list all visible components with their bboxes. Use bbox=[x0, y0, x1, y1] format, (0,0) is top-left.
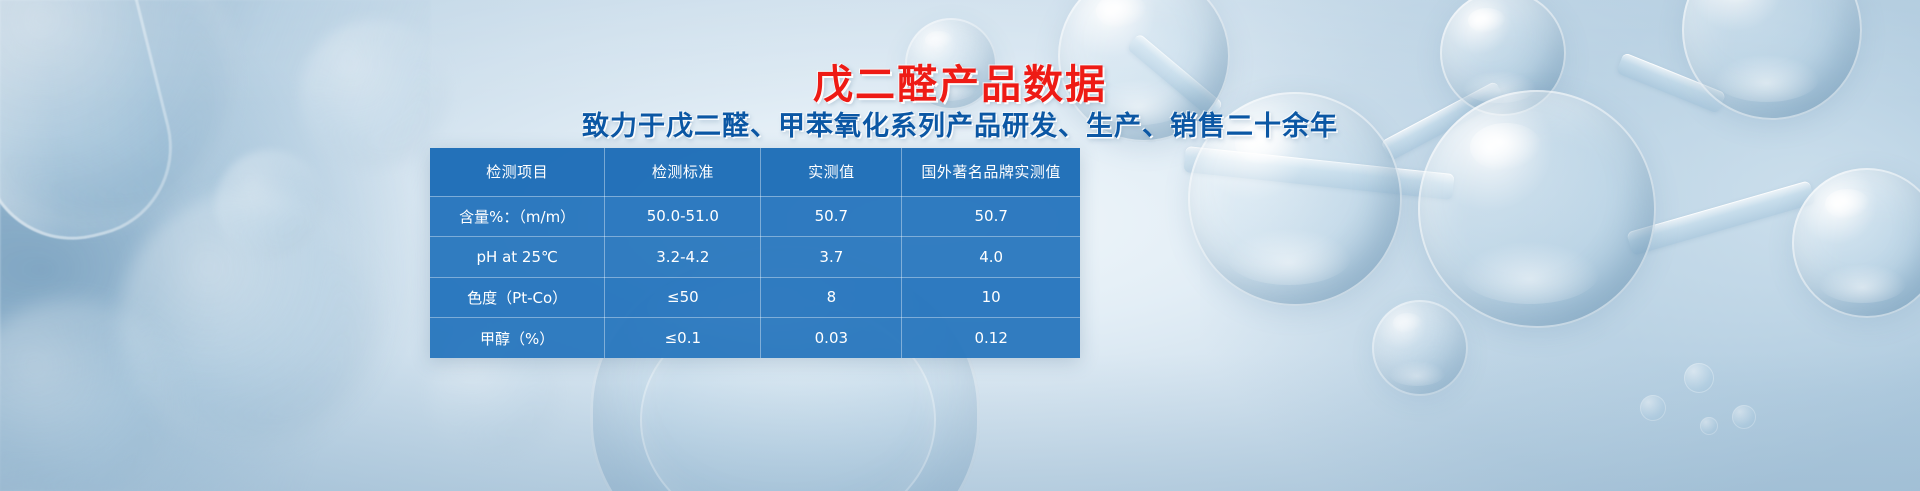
product-data-table-container: 检测项目 检测标准 实测值 国外著名品牌实测值 含量%：（m/m） 50.0-5… bbox=[430, 148, 1080, 358]
cell-standard: ≤0.1 bbox=[605, 318, 761, 359]
column-header-foreign: 国外著名品牌实测值 bbox=[902, 148, 1080, 196]
cell-measured: 8 bbox=[761, 277, 902, 318]
banner-title: 戊二醛产品数据 bbox=[0, 52, 1920, 110]
cell-standard: 50.0-51.0 bbox=[605, 196, 761, 237]
cell-standard: ≤50 bbox=[605, 277, 761, 318]
column-header-measured: 实测值 bbox=[761, 148, 902, 196]
cell-item: 色度（Pt-Co） bbox=[430, 277, 605, 318]
column-header-item: 检测项目 bbox=[430, 148, 605, 196]
cell-foreign: 50.7 bbox=[902, 196, 1080, 237]
cell-foreign: 4.0 bbox=[902, 237, 1080, 278]
table-row: 甲醇（%） ≤0.1 0.03 0.12 bbox=[430, 318, 1080, 359]
cell-item: pH at 25℃ bbox=[430, 237, 605, 278]
cell-standard: 3.2-4.2 bbox=[605, 237, 761, 278]
cell-measured: 50.7 bbox=[761, 196, 902, 237]
product-data-table: 检测项目 检测标准 实测值 国外著名品牌实测值 含量%：（m/m） 50.0-5… bbox=[430, 148, 1080, 358]
product-data-banner: 戊二醛产品数据 致力于戊二醛、甲苯氧化系列产品研发、生产、销售二十余年 检测项目… bbox=[0, 0, 1920, 491]
cell-measured: 0.03 bbox=[761, 318, 902, 359]
cell-foreign: 10 bbox=[902, 277, 1080, 318]
banner-subtitle: 致力于戊二醛、甲苯氧化系列产品研发、生产、销售二十余年 bbox=[0, 104, 1920, 143]
table-row: pH at 25℃ 3.2-4.2 3.7 4.0 bbox=[430, 237, 1080, 278]
cell-item: 含量%：（m/m） bbox=[430, 196, 605, 237]
cell-foreign: 0.12 bbox=[902, 318, 1080, 359]
column-header-standard: 检测标准 bbox=[605, 148, 761, 196]
table-row: 含量%：（m/m） 50.0-51.0 50.7 50.7 bbox=[430, 196, 1080, 237]
cell-item: 甲醇（%） bbox=[430, 318, 605, 359]
table-header-row: 检测项目 检测标准 实测值 国外著名品牌实测值 bbox=[430, 148, 1080, 196]
cell-measured: 3.7 bbox=[761, 237, 902, 278]
table-row: 色度（Pt-Co） ≤50 8 10 bbox=[430, 277, 1080, 318]
